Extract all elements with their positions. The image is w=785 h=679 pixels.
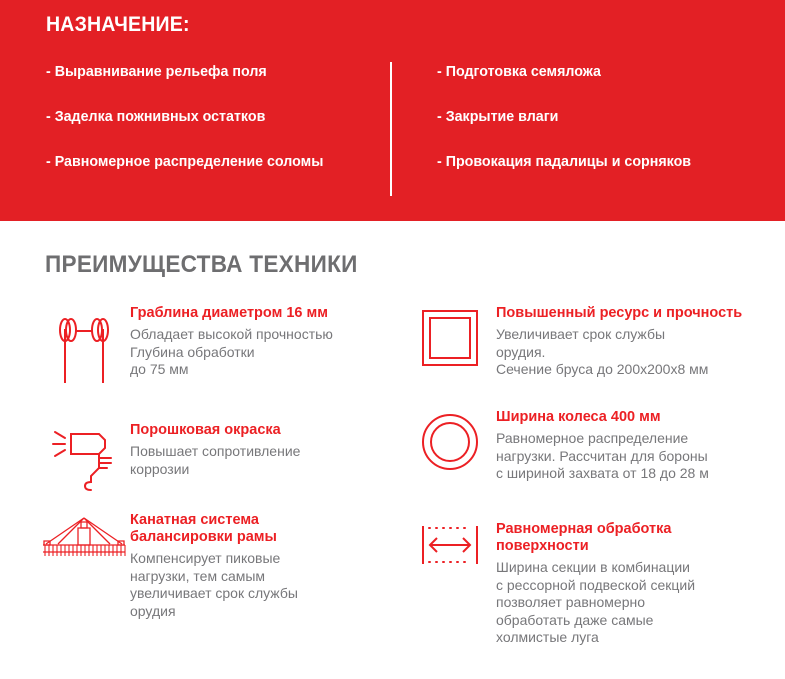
- feature-text: Ширина секции в комбинации с рессорной п…: [496, 559, 695, 647]
- purpose-item: - Закрытие влаги: [437, 107, 760, 126]
- feature-title: Порошковая окраска: [130, 422, 300, 439]
- section-title: ПРЕИМУЩЕСТВА ТЕХНИКИ: [45, 251, 358, 279]
- feature-body: Равномерная обработка поверхности Ширина…: [496, 521, 695, 647]
- cable-frame-icon: [38, 512, 130, 562]
- feature-item: Повышенный ресурс и прочность Увеличивае…: [404, 305, 742, 379]
- purpose-item: - Заделка пожнивных остатков: [46, 107, 360, 126]
- feature-body: Ширина колеса 400 мм Равномерное распред…: [496, 409, 709, 483]
- feature-item: Порошковая окраска Повышает сопротивлени…: [38, 422, 300, 492]
- feature-item: Ширина колеса 400 мм Равномерное распред…: [404, 409, 709, 483]
- feature-body: Порошковая окраска Повышает сопротивлени…: [130, 422, 300, 478]
- feature-title: Граблина диаметром 16 мм: [130, 305, 333, 322]
- purpose-list-right: - Подготовка семяложа - Закрытие влаги -…: [437, 62, 777, 171]
- purpose-item: - Выравнивание рельефа поля: [46, 62, 360, 81]
- purpose-item: - Провокация падалицы и сорняков: [437, 152, 760, 171]
- feature-title: Повышенный ресурс и прочность: [496, 305, 742, 322]
- purpose-item: - Подготовка семяложа: [437, 62, 760, 81]
- feature-body: Повышенный ресурс и прочность Увеличивае…: [496, 305, 742, 379]
- feature-text: Обладает высокой прочностью Глубина обра…: [130, 326, 333, 379]
- spray-gun-icon: [38, 422, 130, 492]
- feature-item: Канатная система балансировки рамы Компе…: [38, 512, 298, 620]
- feature-text: Компенсирует пиковые нагрузки, тем самым…: [130, 550, 298, 620]
- feature-item: Равномерная обработка поверхности Ширина…: [404, 521, 695, 647]
- feature-text: Равномерное распределение нагрузки. Расс…: [496, 430, 709, 483]
- double-arrow-icon: [404, 521, 496, 567]
- spring-tine-icon: [38, 305, 130, 387]
- square-beam-icon: [404, 305, 496, 369]
- purpose-banner: НАЗНАЧЕНИЕ: - Выравнивание рельефа поля …: [0, 0, 785, 221]
- banner-title: НАЗНАЧЕНИЕ:: [46, 13, 190, 37]
- feature-text: Повышает сопротивление коррозии: [130, 443, 300, 478]
- feature-body: Граблина диаметром 16 мм Обладает высоко…: [130, 305, 333, 379]
- advantages-section: ПРЕИМУЩЕСТВА ТЕХНИКИ: [0, 221, 785, 679]
- feature-body: Канатная система балансировки рамы Компе…: [130, 512, 298, 620]
- feature-text: Увеличивает срок службы орудия. Сечение …: [496, 326, 742, 379]
- purpose-list-left: - Выравнивание рельефа поля - Заделка по…: [46, 62, 376, 171]
- banner-vertical-divider: [390, 62, 392, 196]
- feature-title: Ширина колеса 400 мм: [496, 409, 709, 426]
- feature-title: Равномерная обработка поверхности: [496, 521, 695, 555]
- feature-item: Граблина диаметром 16 мм Обладает высоко…: [38, 305, 333, 387]
- wheel-icon: [404, 409, 496, 473]
- feature-title: Канатная система балансировки рамы: [130, 512, 298, 546]
- purpose-item: - Равномерное распределение соломы: [46, 152, 360, 171]
